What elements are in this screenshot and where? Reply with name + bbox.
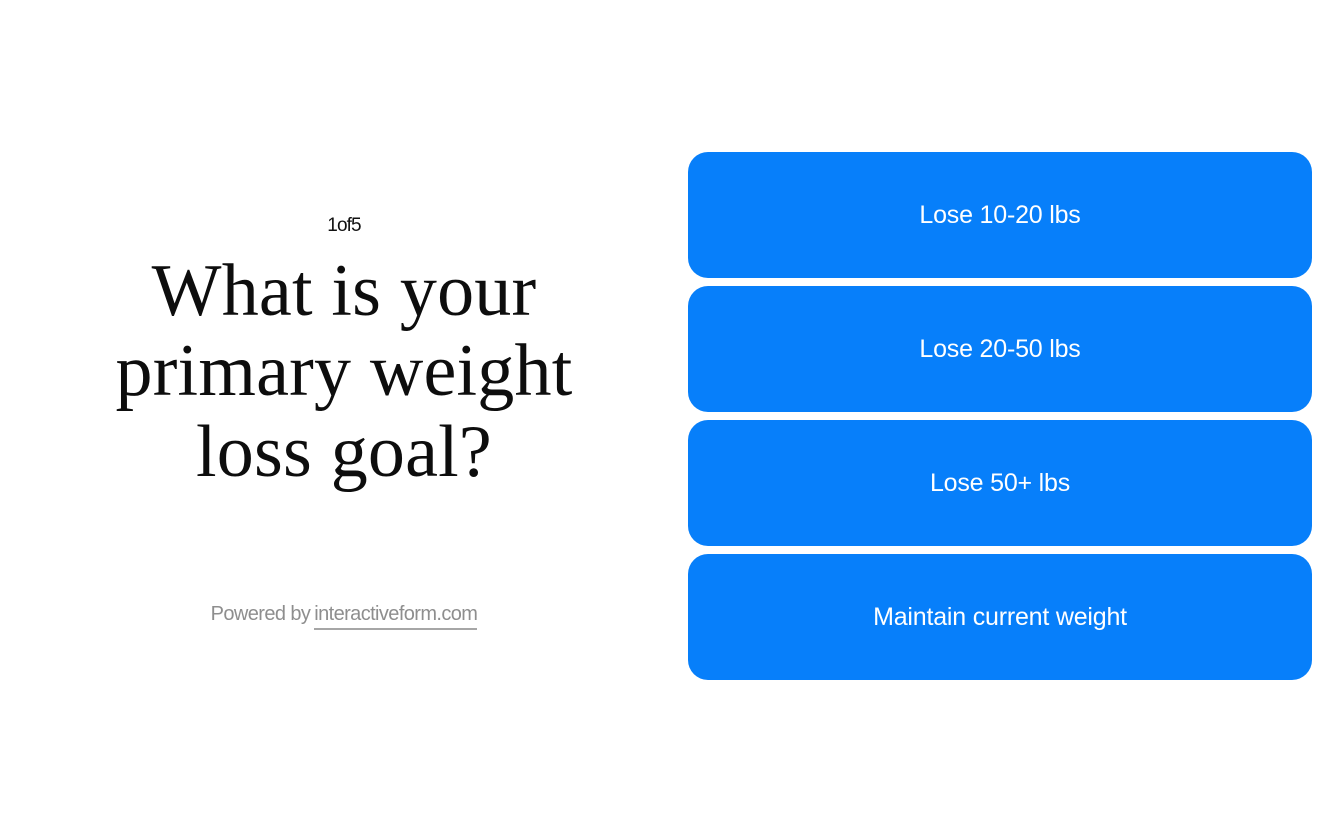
answer-option-4[interactable]: Maintain current weight bbox=[688, 554, 1312, 680]
answer-option-2[interactable]: Lose 20-50 lbs bbox=[688, 286, 1312, 412]
question-title: What is your primary weight loss goal? bbox=[54, 251, 634, 493]
powered-by-link[interactable]: interactiveform.com bbox=[314, 603, 477, 630]
quiz-screen: 1of5 What is your primary weight loss go… bbox=[0, 0, 1344, 840]
powered-by-footer: Powered byinteractiveform.com bbox=[211, 604, 478, 624]
answer-options-list: Lose 10-20 lbs Lose 20-50 lbs Lose 50+ l… bbox=[688, 152, 1312, 680]
question-pane: 1of5 What is your primary weight loss go… bbox=[0, 0, 688, 840]
answer-option-1[interactable]: Lose 10-20 lbs bbox=[688, 152, 1312, 278]
progress-indicator: 1of5 bbox=[327, 216, 360, 235]
powered-by-label: Powered by bbox=[211, 603, 311, 625]
answer-option-3[interactable]: Lose 50+ lbs bbox=[688, 420, 1312, 546]
